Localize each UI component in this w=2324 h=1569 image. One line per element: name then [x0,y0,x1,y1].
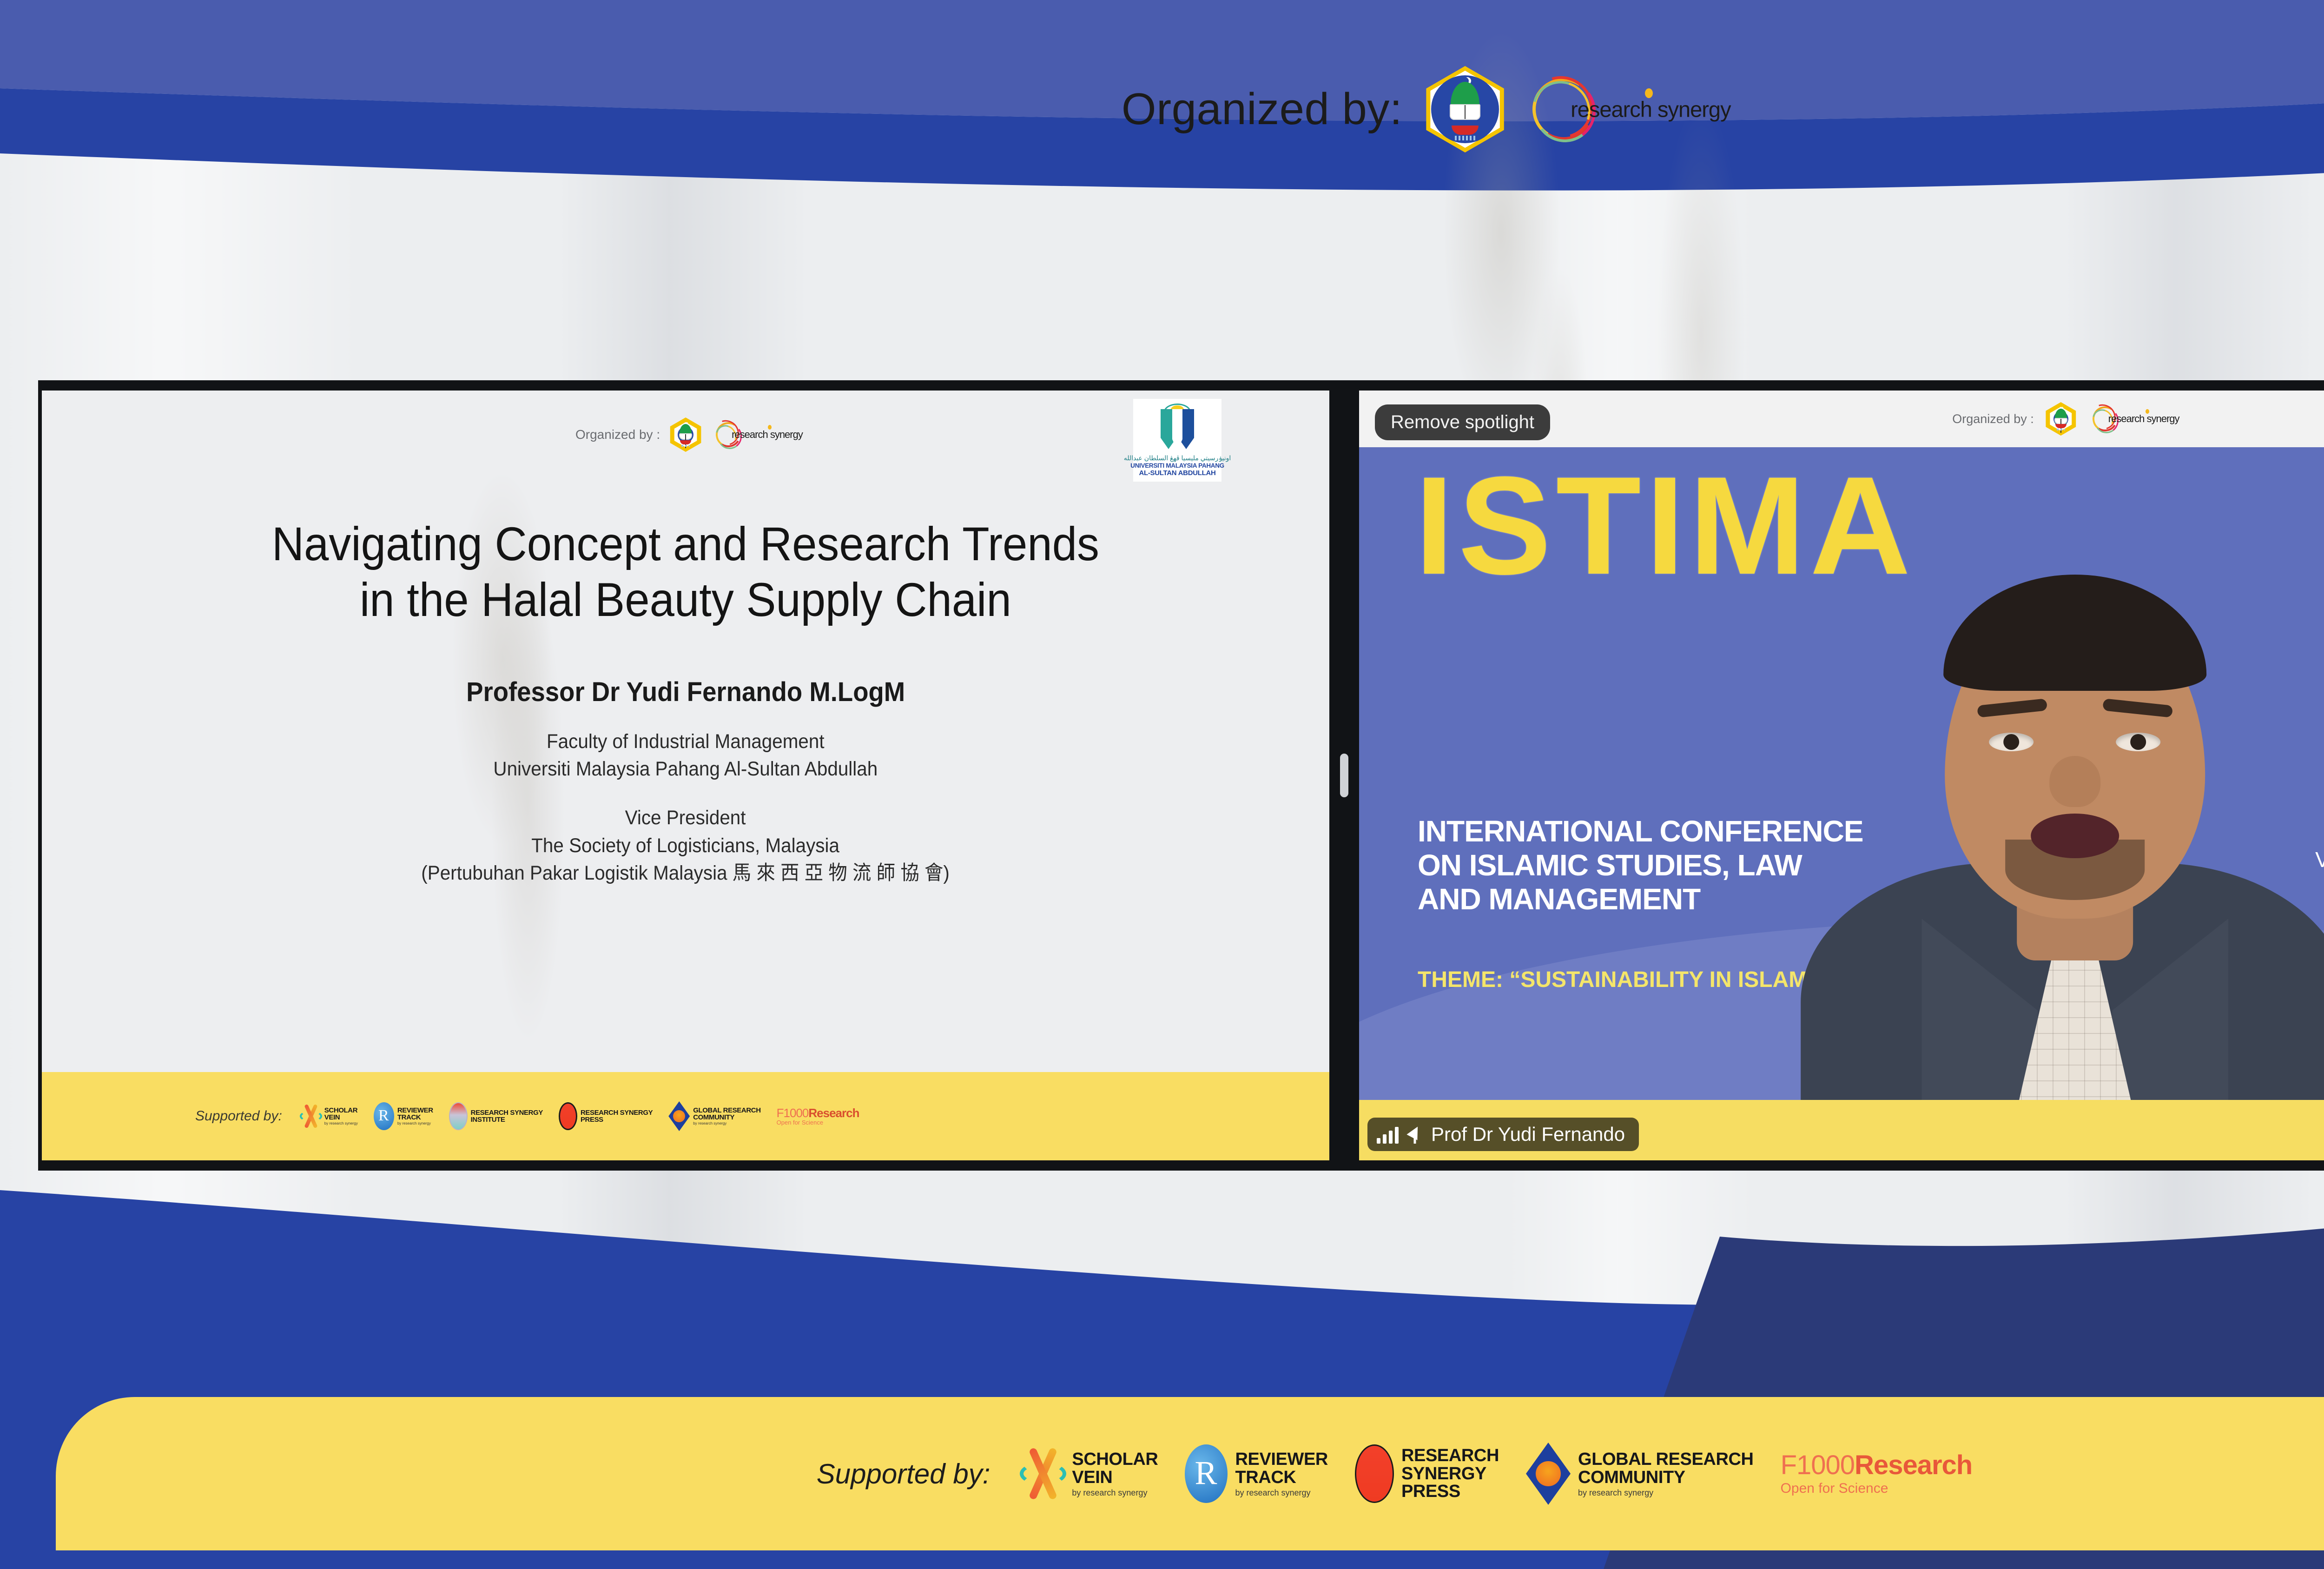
presenter-figure [1801,472,2324,1160]
partner-global-research-community: GLOBAL RESEARCH COMMUNITY by research sy… [1526,1443,1754,1505]
slide-title: Navigating Concept and Research Trends i… [272,516,1099,628]
partner-line1: SCHOLAR [324,1107,358,1114]
partner-line2: SYNERGY [1401,1465,1499,1483]
research-synergy-logo-icon: research synergy [2088,403,2154,435]
research-synergy-institute-icon [449,1102,468,1130]
video-organized-by-label: Organized by : [1952,412,2034,426]
global-research-community-icon [1526,1443,1571,1505]
signal-strength-icon [1377,1125,1399,1144]
organized-by-label: Organized by: [1122,84,1402,135]
research-synergy-press-icon [559,1102,577,1130]
partner-f1000research: F1000Research Open for Science [1781,1451,1973,1496]
partner-research-synergy-press: RESEARCH SYNERGY PRESS [1355,1444,1499,1503]
partner-byline: by research synergy [693,1122,760,1125]
slide-footer: Supported by: SCHOLAR VEIN by research s… [42,1072,1329,1160]
drag-handle[interactable] [1340,754,1348,797]
partner-byline: by research synergy [1072,1489,1158,1497]
partner-byline: by research synergy [1578,1489,1754,1497]
f1000-tagline: Open for Science [1781,1482,1973,1496]
partner-scholar-vein: SCHOLAR VEIN by research synergy [1022,1445,1158,1502]
research-synergy-logo-icon: research synergy [1528,74,1667,144]
video-feed: Organized by : research synergy ISTIMA [1359,391,2324,1160]
partner-line2: VEIN [1072,1469,1158,1487]
page-footer: Supported by: SCHOLAR VEIN by research s… [56,1397,2324,1550]
partner-line1: REVIEWER [1235,1450,1328,1469]
partner-byline: by research synergy [324,1122,358,1125]
partner-line2: INSTITUTE [471,1116,543,1123]
umpsa-name-line2: AL-SULTAN ABDULLAH [1139,469,1215,477]
f1000-tagline: Open for Science [777,1119,859,1125]
research-synergy-wordmark: research synergy [732,429,803,441]
virtual-background-content: ISTIMA INTERNATIONAL CONFERENCE ON ISLAM… [1359,447,2324,1160]
partner-line1: SCHOLAR [1072,1450,1158,1469]
partner-byline: by research synergy [1235,1489,1328,1497]
f1000-name: Research [1855,1450,1972,1480]
page-background: Organized by: research synergy Organized… [0,0,2324,1569]
supported-by-label: Supported by: [817,1458,990,1490]
slide-role: Vice President The Society of Logisticia… [422,804,950,887]
f1000-prefix: F1000 [1781,1450,1855,1480]
research-synergy-wordmark: research synergy [2108,413,2179,425]
partner-line1: GLOBAL RESEARCH [693,1107,760,1114]
partner-global-research-community: GLOBAL RESEARCH COMMUNITY by research sy… [668,1101,760,1131]
presentation-slide: Organized by : research synergy [42,391,1329,1160]
partner-line1: RESEARCH [1401,1447,1499,1465]
slide-organized-by-label: Organized by : [575,427,660,442]
umpsa-logo: اونيۏرسيتي مليسيا ڤهڠ السلطان عبدالله UN… [1133,399,1221,482]
partner-line1: RESEARCH SYNERGY [581,1109,653,1116]
f1000-prefix: F1000 [777,1106,809,1120]
f1000-name: Research [808,1106,859,1120]
partner-line2: COMMUNITY [1578,1469,1754,1487]
scholar-vein-icon [301,1103,321,1129]
video-call-window: Organized by : research synergy [38,380,2324,1171]
partner-research-synergy-institute: RESEARCH SYNERGY INSTITUTE [449,1102,543,1130]
participant-video-tile[interactable]: Organized by : research synergy ISTIMA [1359,391,2324,1160]
partner-line3: PRESS [1401,1483,1499,1501]
partner-line1: GLOBAL RESEARCH [1578,1450,1754,1469]
partner-research-synergy-press: RESEARCH SYNERGY PRESS [559,1102,653,1130]
participant-name-label: Prof Dr Yudi Fernando [1431,1123,1625,1145]
slide-body: Navigating Concept and Research Trends i… [42,507,1329,1072]
participant-name-badge: Prof Dr Yudi Fernando [1367,1118,1639,1151]
spotlight-pin-icon [1407,1125,1423,1144]
research-synergy-wordmark: research synergy [1571,97,1731,122]
slide-header: Organized by : research synergy [42,391,1329,507]
partner-f1000research: F1000Research Open for Science [777,1107,859,1125]
conference-name: INTERNATIONAL CONFERENCE ON ISLAMIC STUD… [1418,814,1863,916]
remove-spotlight-button[interactable]: Remove spotlight [1375,404,1550,440]
umpsa-shield-icon [1157,404,1198,452]
pane-divider[interactable] [1329,391,1359,1160]
slide-organized-by: Organized by : research synergy [575,417,776,452]
reviewer-track-icon: R [374,1102,394,1130]
partner-line2: VEIN [324,1114,358,1121]
slide-supported-by-label: Supported by: [195,1108,282,1124]
partner-byline: by research synergy [397,1122,433,1125]
header: Organized by: research synergy [0,56,2324,163]
slide-affiliation: Faculty of Industrial Management Univers… [494,728,878,783]
slide-speaker-name: Professor Dr Yudi Fernando M.LogM [466,676,905,708]
partner-reviewer-track: R REVIEWER TRACK by research synergy [1185,1444,1328,1503]
partner-scholar-vein: SCHOLAR VEIN by research synergy [301,1103,358,1129]
research-synergy-press-icon [1355,1444,1394,1503]
partner-line1: REVIEWER [397,1107,433,1114]
global-research-community-icon [668,1101,690,1131]
scholar-vein-icon [1022,1445,1064,1502]
shared-screen-pane[interactable]: Organized by : research synergy [42,391,1329,1160]
research-synergy-logo-icon: research synergy [711,418,776,451]
uniska-logo-icon [1422,66,1508,152]
partner-line2: PRESS [581,1116,653,1123]
partner-line2: COMMUNITY [693,1114,760,1121]
umpsa-name-line1: UNIVERSITI MALAYSIA PAHANG [1130,462,1224,469]
reviewer-track-icon: R [1185,1444,1228,1503]
uniska-logo-icon [2044,402,2078,436]
partner-line2: TRACK [397,1114,433,1121]
partner-reviewer-track: R REVIEWER TRACK by research synergy [374,1102,433,1130]
uniska-logo-icon [668,417,703,452]
partner-line1: RESEARCH SYNERGY [471,1109,543,1116]
umpsa-jawi-text: اونيۏرسيتي مليسيا ڤهڠ السلطان عبدالله [1124,454,1231,462]
partner-line2: TRACK [1235,1469,1328,1487]
